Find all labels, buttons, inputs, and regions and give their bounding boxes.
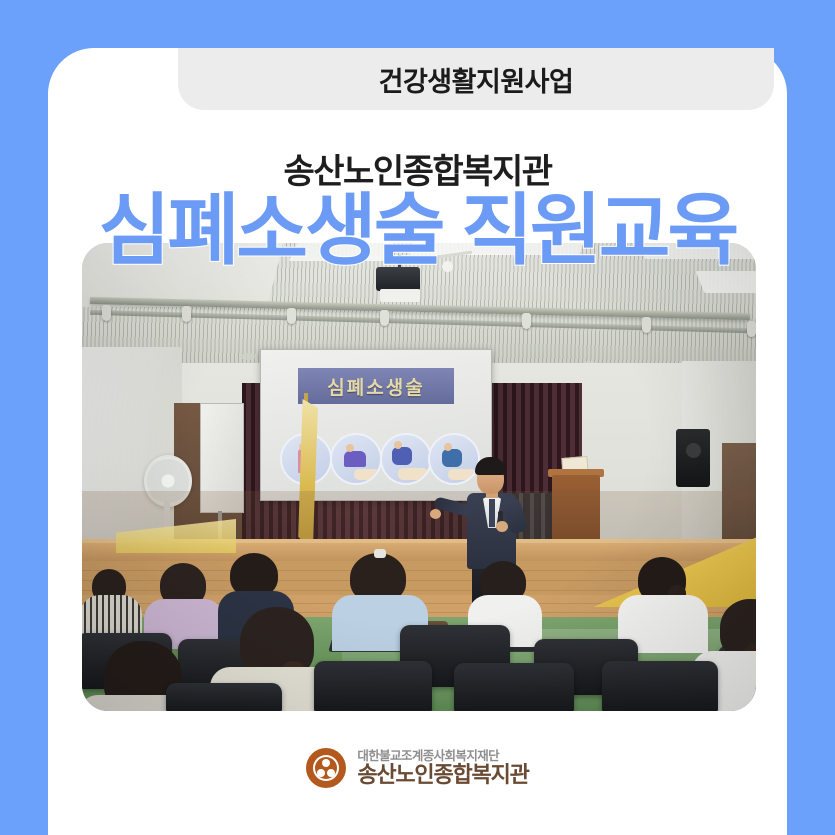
event-photo: 심폐소생술 [82,243,756,711]
logo-organization: 대한불교조계종사회복지재단 [357,749,528,763]
logo-text-block: 대한불교조계종사회복지재단 송산노인종합복지관 [357,749,528,788]
program-category-badge: 건강생활지원사업 [178,48,774,110]
page-title: 심폐소생술 직원교육 [48,189,787,272]
promo-card: 건강생활지원사업 송산노인종합복지관 심폐소생술 직원교육 [48,48,787,835]
three-dot-circle-icon [306,748,346,788]
logo-name: 송산노인종합복지관 [357,763,528,788]
program-category-label: 건강생활지원사업 [379,60,574,99]
photo-vignette [82,243,756,711]
footer-logo: 대한불교조계종사회복지재단 송산노인종합복지관 [48,748,787,788]
